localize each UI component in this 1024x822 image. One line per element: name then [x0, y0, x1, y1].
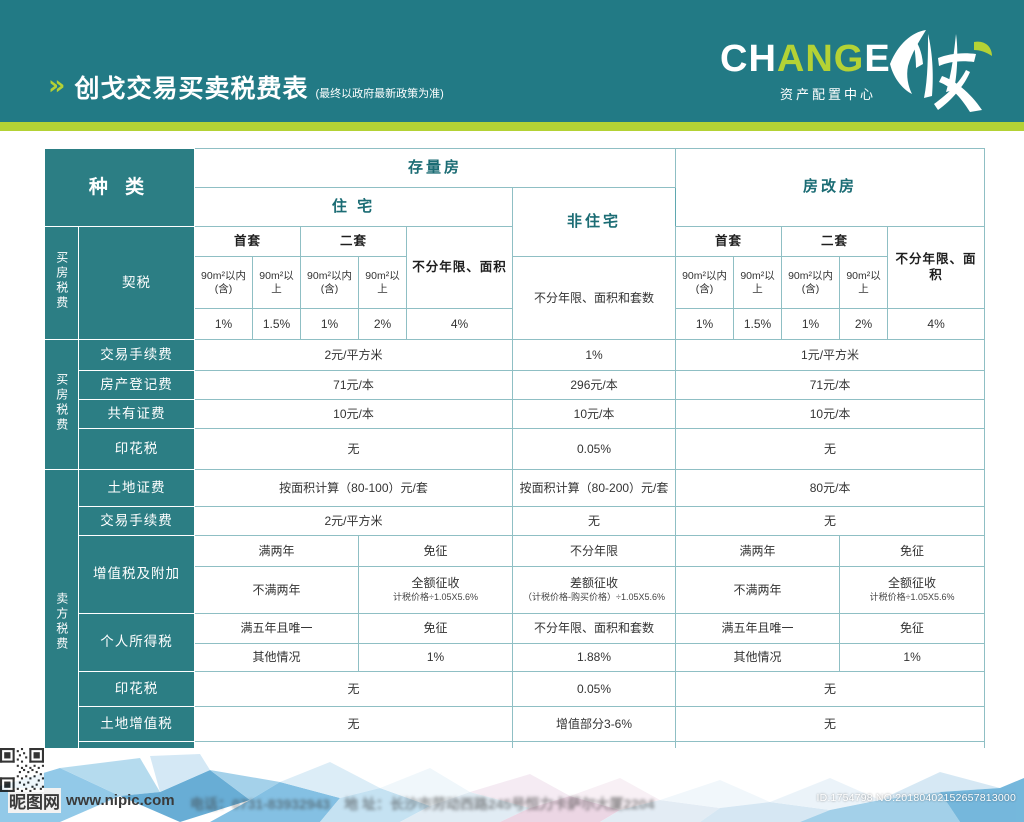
value-existing-nonres-transaction-fee-seller: 无 — [513, 507, 676, 536]
value-reform-stamp-buyer: 无 — [676, 429, 985, 470]
tier-reform-second: 二套 — [782, 227, 888, 257]
header-group-reform: 房改房 — [676, 149, 985, 227]
value-pit-reform-b1: 其他情况 — [676, 644, 840, 672]
rate-reform-above: 4% — [888, 309, 985, 340]
row-label-transaction-fee-buyer: 交易手续费 — [79, 340, 195, 371]
area-existing-second-over: 90m²以上 — [359, 257, 407, 309]
value-existing-nonres-land-cert: 按面积计算（80-200）元/套 — [513, 470, 676, 507]
table-row: 买房税费 交易手续费 2元/平方米 1% 1元/平方米 — [45, 340, 985, 371]
header-group-existing: 存量房 — [195, 149, 676, 188]
rate-existing-second-over: 2% — [359, 309, 407, 340]
value-existing-nonres-registration: 296元/本 — [513, 371, 676, 400]
value-vat-existing-res-a2: 免征 — [359, 536, 513, 567]
value-vat-reform-b2-main: 全额征收 — [888, 576, 936, 590]
area-reform-second-over: 90m²以上 — [840, 257, 888, 309]
value-existing-res-stamp-seller: 无 — [195, 672, 513, 707]
rate-reform-second-over: 2% — [840, 309, 888, 340]
tier-reform-first: 首套 — [676, 227, 782, 257]
rate-existing-second-under: 1% — [301, 309, 359, 340]
page-subtitle: (最终以政府最新政策为准) — [315, 89, 443, 102]
value-existing-res-registration: 71元/本 — [195, 371, 513, 400]
chevron-right-icon: » — [48, 72, 62, 102]
value-reform-transaction-fee-seller: 无 — [676, 507, 985, 536]
brand-logo: CHANGE 资产配置中心 — [706, 26, 1006, 114]
table-row: 交易手续费 2元/平方米 无 无 — [45, 507, 985, 536]
value-vat-existing-res-b2: 全额征收 计税价格÷1.05X5.6% — [359, 567, 513, 614]
value-vat-reform-b2-note: 计税价格÷1.05X5.6% — [842, 592, 982, 603]
area-reform-second-under: 90m²以内(含) — [782, 257, 840, 309]
rate-reform-second-under: 1% — [782, 309, 840, 340]
value-existing-nonres-coownership: 10元/本 — [513, 400, 676, 429]
value-pit-existing-res-b1: 其他情况 — [195, 644, 359, 672]
table-row: 卖方税费 土地证费 按面积计算（80-100）元/套 按面积计算（80-200）… — [45, 470, 985, 507]
header-sub-residential: 住 宅 — [195, 188, 513, 227]
watermark-url[interactable]: www.nipic.com — [66, 792, 175, 809]
row-label-stamp-duty-seller: 印花税 — [79, 672, 195, 707]
row-label-land-certificate-fee: 土地证费 — [79, 470, 195, 507]
value-existing-nonres-stamp-buyer: 0.05% — [513, 429, 676, 470]
row-label-transaction-fee-seller: 交易手续费 — [79, 507, 195, 536]
rate-existing-above: 4% — [407, 309, 513, 340]
blurred-contact-text: 电话：0731-83932943 地 址：长沙市劳动西路245号恒力卡萨尔大厦2… — [190, 794, 750, 814]
value-reform-land-cert: 80元/本 — [676, 470, 985, 507]
value-pit-existing-res-b2: 1% — [359, 644, 513, 672]
table-row: 房产登记费 71元/本 296元/本 71元/本 — [45, 371, 985, 400]
rate-reform-first-under: 1% — [676, 309, 734, 340]
nonres-deed-scope: 不分年限、面积和套数 — [513, 257, 676, 340]
value-existing-res-transaction-fee-seller: 2元/平方米 — [195, 507, 513, 536]
row-label-property-registration-fee: 房产登记费 — [79, 371, 195, 400]
tax-fee-table-container: 种 类 存量房 房改房 住 宅 非住宅 买房税费 契税 首套 二套 不分年限、面… — [44, 148, 984, 745]
value-existing-res-stamp-buyer: 无 — [195, 429, 513, 470]
tier-existing-above: 不分年限、面积 — [407, 227, 513, 309]
calligraphy-logo-icon — [882, 24, 1002, 116]
value-vat-existing-nonres-a: 不分年限 — [513, 536, 676, 567]
value-pit-reform-b2: 1% — [840, 644, 985, 672]
side-label-seller-text: 卖方税费 — [55, 592, 68, 652]
area-existing-first-over: 90m²以上 — [253, 257, 301, 309]
side-label-buyer-text-cont: 买房税费 — [55, 373, 68, 433]
table-row: 增值税及附加 满两年 免征 不分年限 满两年 免征 — [45, 536, 985, 567]
tier-existing-first: 首套 — [195, 227, 301, 257]
table-row: 个人所得税 满五年且唯一 免征 不分年限、面积和套数 满五年且唯一 免征 — [45, 614, 985, 644]
area-existing-second-under: 90m²以内(含) — [301, 257, 359, 309]
side-label-buyer: 买房税费 — [45, 227, 79, 340]
rate-existing-first-over: 1.5% — [253, 309, 301, 340]
row-label-deed-tax: 契税 — [79, 227, 195, 340]
page-header: » 创戈交易买卖税费表 (最终以政府最新政策为准) CHANGE 资产配置中心 — [0, 0, 1024, 122]
rate-reform-first-over: 1.5% — [734, 309, 782, 340]
value-vat-existing-nonres-b: 差额征收 （计税价格-购买价格）÷1.05X5.6% — [513, 567, 676, 614]
row-label-personal-income-tax: 个人所得税 — [79, 614, 195, 672]
value-existing-res-coownership: 10元/本 — [195, 400, 513, 429]
table-row: 共有证费 10元/本 10元/本 10元/本 — [45, 400, 985, 429]
value-pit-existing-nonres-a: 不分年限、面积和套数 — [513, 614, 676, 644]
table-header-row-group: 种 类 存量房 房改房 — [45, 149, 985, 188]
value-pit-reform-a1: 满五年且唯一 — [676, 614, 840, 644]
tier-reform-above: 不分年限、面积 — [888, 227, 985, 309]
header-accent-bar — [0, 122, 1024, 131]
value-vat-reform-b1: 不满两年 — [676, 567, 840, 614]
value-reform-stamp-seller: 无 — [676, 672, 985, 707]
rate-existing-first-under: 1% — [195, 309, 253, 340]
value-existing-nonres-transaction-fee-buyer: 1% — [513, 340, 676, 371]
value-reform-registration: 71元/本 — [676, 371, 985, 400]
value-vat-existing-res-b1: 不满两年 — [195, 567, 359, 614]
row-label-stamp-duty-buyer: 印花税 — [79, 429, 195, 470]
value-vat-reform-a1: 满两年 — [676, 536, 840, 567]
header-title-group: » 创戈交易买卖税费表 (最终以政府最新政策为准) — [48, 72, 444, 102]
brand-word-part2: ANG — [777, 38, 864, 80]
value-pit-existing-nonres-b: 1.88% — [513, 644, 676, 672]
tax-fee-table: 种 类 存量房 房改房 住 宅 非住宅 买房税费 契税 首套 二套 不分年限、面… — [44, 148, 985, 779]
header-kind-cell: 种 类 — [45, 149, 195, 227]
value-pit-existing-res-a1: 满五年且唯一 — [195, 614, 359, 644]
value-reform-coownership: 10元/本 — [676, 400, 985, 429]
row-label-vat-surcharge: 增值税及附加 — [79, 536, 195, 614]
table-row: 土地增值税 无 增值部分3-6% 无 — [45, 707, 985, 742]
side-label-buyer-cont: 买房税费 — [45, 340, 79, 470]
value-existing-res-transaction-fee-buyer: 2元/平方米 — [195, 340, 513, 371]
value-vat-reform-a2: 免征 — [840, 536, 985, 567]
value-reform-lat: 无 — [676, 707, 985, 742]
area-existing-first-under: 90m²以内(含) — [195, 257, 253, 309]
value-existing-res-land-cert: 按面积计算（80-100）元/套 — [195, 470, 513, 507]
value-pit-reform-a2: 免征 — [840, 614, 985, 644]
image-id-tag: ID:1754798 NO:20180402152657813000 — [817, 792, 1016, 804]
value-vat-existing-res-b2-main: 全额征收 — [411, 576, 459, 590]
value-existing-nonres-stamp-seller: 0.05% — [513, 672, 676, 707]
row-label-land-appreciation-tax: 土地增值税 — [79, 707, 195, 742]
row-label-coownership-certificate-fee: 共有证费 — [79, 400, 195, 429]
value-reform-transaction-fee-buyer: 1元/平方米 — [676, 340, 985, 371]
qr-code-icon — [0, 748, 44, 792]
side-label-seller: 卖方税费 — [45, 470, 79, 779]
area-reform-first-over: 90m²以上 — [734, 257, 782, 309]
brand-tagline: 资产配置中心 — [780, 88, 876, 101]
table-row: 印花税 无 0.05% 无 — [45, 429, 985, 470]
header-sub-nonresidential: 非住宅 — [513, 188, 676, 257]
page-footer: 电话：0731-83932943 地 址：长沙市劳动西路245号恒力卡萨尔大厦2… — [0, 748, 1024, 822]
value-vat-existing-res-a1: 满两年 — [195, 536, 359, 567]
side-label-buyer-text: 买房税费 — [55, 251, 68, 311]
value-existing-nonres-lat: 增值部分3-6% — [513, 707, 676, 742]
value-vat-existing-nonres-b-main: 差额征收 — [570, 576, 618, 590]
table-row: 印花税 无 0.05% 无 — [45, 672, 985, 707]
value-pit-existing-res-a2: 免征 — [359, 614, 513, 644]
value-vat-reform-b2: 全额征收 计税价格÷1.05X5.6% — [840, 567, 985, 614]
brand-wordmark: CHANGE — [720, 40, 891, 78]
brand-word-part1: CH — [720, 38, 777, 80]
value-vat-existing-res-b2-note: 计税价格÷1.05X5.6% — [361, 592, 510, 603]
value-existing-res-lat: 无 — [195, 707, 513, 742]
tier-existing-second: 二套 — [301, 227, 407, 257]
page-title: 创戈交易买卖税费表 — [74, 77, 308, 102]
area-reform-first-under: 90m²以内(含) — [676, 257, 734, 309]
value-vat-existing-nonres-b-note: （计税价格-购买价格）÷1.05X5.6% — [515, 592, 673, 603]
